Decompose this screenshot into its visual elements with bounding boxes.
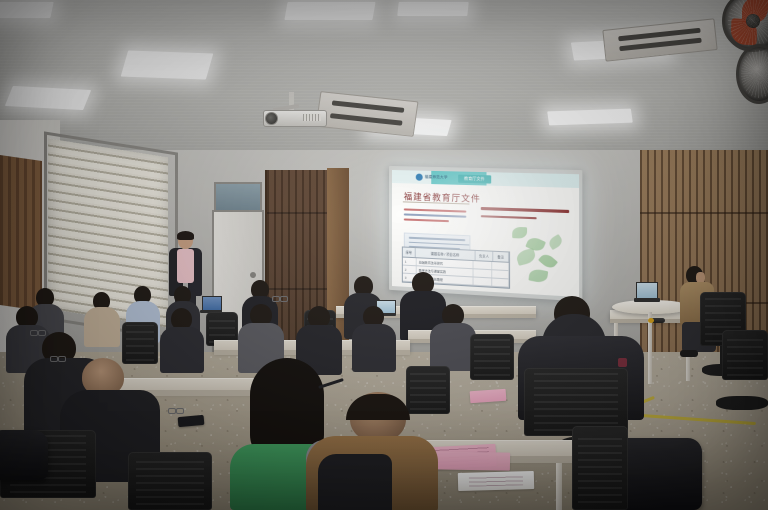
table-cell: 1: [403, 258, 417, 266]
booklet-lines: [469, 475, 524, 487]
glasses-icon: [272, 296, 288, 301]
front-man-dark-vest: [318, 454, 392, 510]
slide-left-lines: [404, 208, 467, 226]
chair-backrest: [722, 330, 768, 380]
ceiling-projector: [263, 104, 325, 125]
front-man-hair: [346, 394, 410, 420]
attendee-torso: [352, 324, 396, 372]
attendee-row2-suit: [160, 308, 204, 370]
man-in-tan-jacket-front: [306, 392, 438, 510]
fan-cage-icon: [736, 44, 768, 104]
wall-fan-right-lower: [736, 44, 768, 104]
glasses-on-desk-icon: [168, 408, 184, 413]
chair-backrest: [470, 334, 514, 380]
attendee-row2-center: [352, 306, 396, 370]
attendee-torso: [160, 327, 204, 373]
ceiling-light-panel: [284, 2, 375, 20]
projector-vent: [303, 114, 321, 121]
operator-shoe: [680, 350, 698, 357]
slide-right-text: [481, 207, 573, 226]
presenter-shirt: [177, 249, 194, 283]
table-header-cell: 序号: [403, 248, 416, 258]
office-chair[interactable]: [722, 330, 768, 380]
leaf-decoration: [512, 227, 527, 239]
desk-leg: [556, 463, 562, 510]
table-cell: [474, 261, 492, 269]
office-chair[interactable]: [470, 334, 514, 380]
office-chair[interactable]: [128, 452, 212, 510]
pink-form-row2[interactable]: [470, 389, 507, 403]
slide-header-tab: 教育厅文件: [458, 174, 491, 183]
fan-hub: [746, 14, 759, 27]
ceiling-light-panel: [5, 86, 91, 110]
fan-blade: [730, 18, 757, 45]
leaf-decoration: [515, 248, 538, 266]
black-bag-left[interactable]: [0, 430, 48, 480]
door-knob-icon[interactable]: [250, 272, 256, 278]
presenter-hair: [177, 231, 194, 240]
jacket-logo-patch: [618, 358, 627, 367]
pink-form-front-2[interactable]: [432, 451, 510, 470]
fan-blade: [742, 0, 768, 23]
table-header-cell: 负责人: [476, 251, 494, 261]
meeting-room-photo: 福建师范大学 教育厅文件 福建省教育厅文件: [0, 0, 768, 510]
table-cell: [474, 269, 492, 277]
ceiling-light-panel: [397, 2, 468, 16]
white-booklet[interactable]: [458, 471, 534, 491]
chair-backrest: [572, 426, 628, 510]
leaf-decoration: [538, 252, 558, 271]
ceiling-light-panel: [121, 50, 214, 79]
slide-header-bar: 福建师范大学 教育厅文件: [392, 170, 579, 188]
table-cell: [474, 278, 492, 286]
ceiling-light-panel: [0, 2, 54, 18]
table-cell: [492, 270, 509, 278]
leaf-decoration: [547, 234, 565, 250]
black-backpack[interactable]: [616, 438, 702, 510]
table-cell: [492, 279, 509, 287]
handheld-microphone[interactable]: [651, 318, 665, 323]
office-chair[interactable]: [572, 426, 628, 510]
university-logo-icon: [416, 174, 423, 181]
ceiling-light-panel: [547, 109, 633, 126]
chair-backrest: [128, 452, 212, 510]
table-cell: [492, 262, 509, 270]
projector-lens-icon: [265, 112, 278, 125]
chair-base: [716, 396, 768, 410]
table-header-cell: 备注: [493, 252, 509, 262]
slide-logo-text: 福建师范大学: [425, 175, 448, 181]
slide-logo: 福建师范大学: [416, 174, 448, 182]
leaf-decoration: [528, 268, 548, 284]
